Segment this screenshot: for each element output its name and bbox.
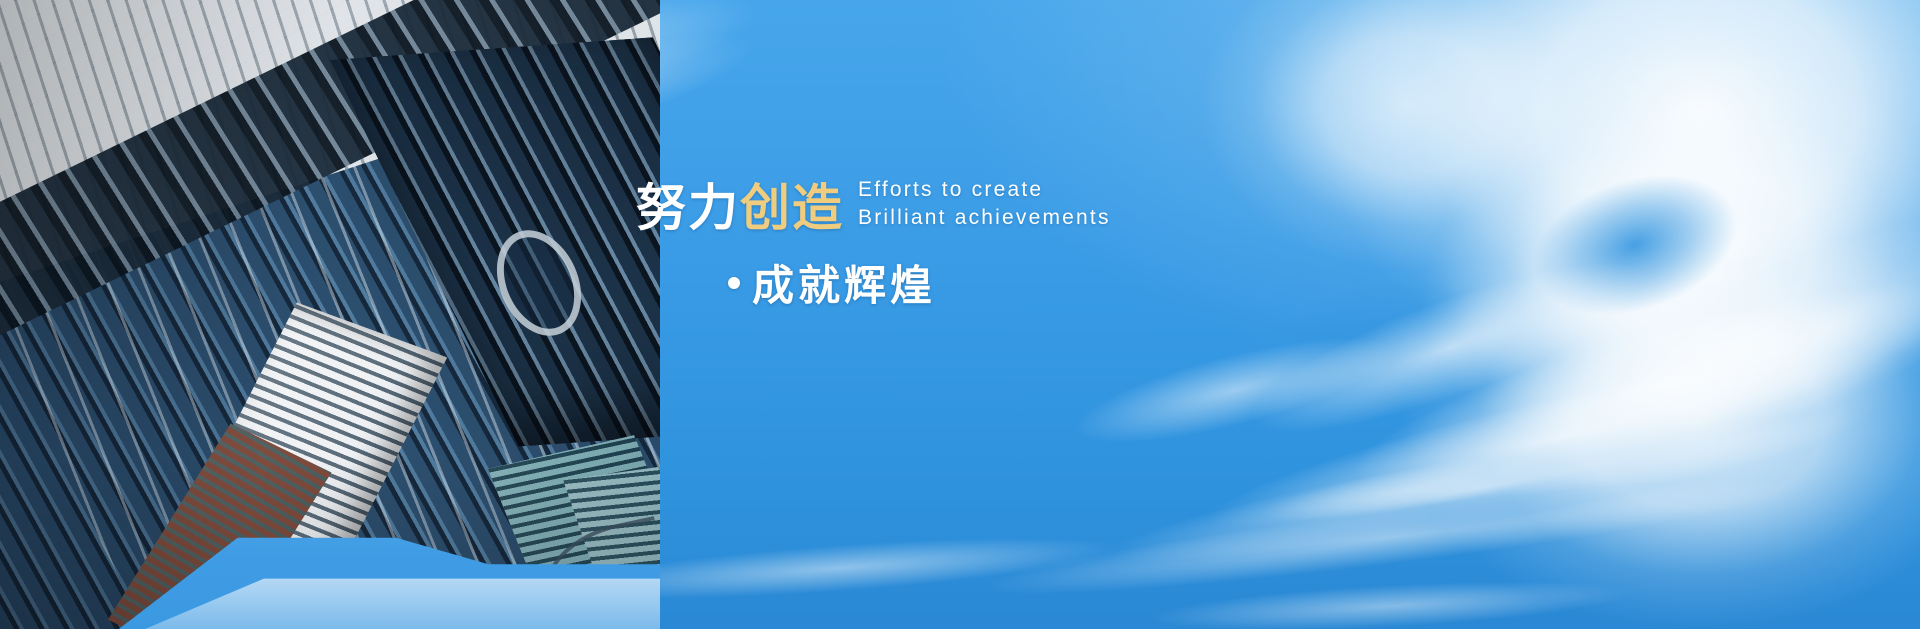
headline-chinese-primary: 努力创造	[636, 182, 844, 235]
headline-chinese-white: 努力	[636, 180, 740, 236]
headline-english-line-1: Efforts to create	[858, 178, 1043, 201]
headline-chinese-gold: 创造	[740, 180, 844, 236]
headline-english: Efforts to create Brilliant achievements	[858, 176, 1111, 234]
bullet-dot-icon	[728, 277, 740, 289]
hero-banner: 努力创造 Efforts to create Brilliant achieve…	[0, 0, 1920, 629]
headline-line-1: 努力创造 Efforts to create Brilliant achieve…	[636, 176, 1256, 234]
skyscraper-photo	[0, 0, 660, 629]
headline-chinese-secondary: 成就辉煌	[752, 252, 936, 313]
headline-line-2: 成就辉煌	[636, 252, 1256, 313]
headline-block: 努力创造 Efforts to create Brilliant achieve…	[636, 176, 1256, 313]
headline-english-line-2: Brilliant achievements	[858, 206, 1111, 229]
